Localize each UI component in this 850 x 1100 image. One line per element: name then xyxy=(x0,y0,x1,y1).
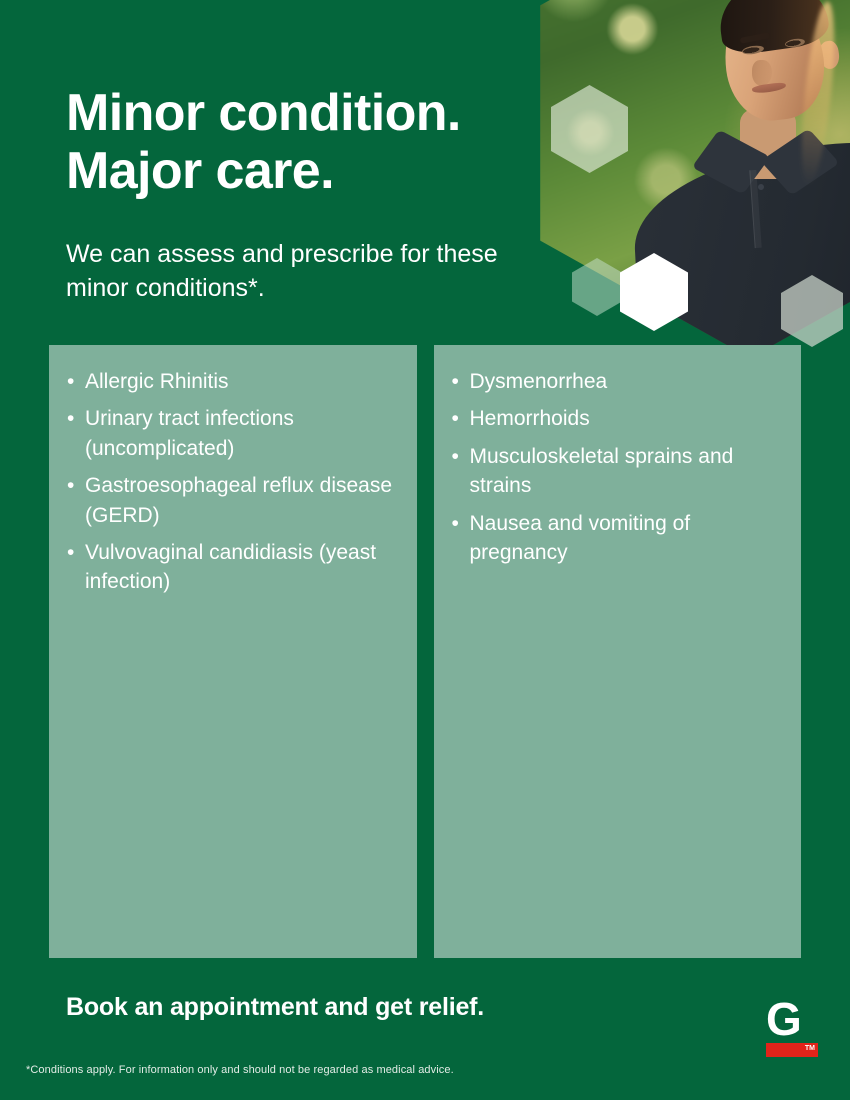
conditions-list-left: Allergic RhinitisUrinary tract infection… xyxy=(65,367,397,597)
condition-list-item: Urinary tract infections (uncomplicated) xyxy=(65,404,397,463)
person-shirt-button xyxy=(758,184,764,190)
conditions-list-right: DysmenorrheaHemorrhoidsMusculoskeletal s… xyxy=(450,367,782,567)
condition-list-item: Gastroesophageal reflux disease (GERD) xyxy=(65,471,397,530)
conditions-panel-group: Allergic RhinitisUrinary tract infection… xyxy=(49,345,801,958)
condition-list-item: Vulvovaginal candidiasis (yeast infectio… xyxy=(65,538,397,597)
condition-list-item: Dysmenorrhea xyxy=(450,367,782,396)
condition-list-item: Allergic Rhinitis xyxy=(65,367,397,396)
conditions-card-left: Allergic RhinitisUrinary tract infection… xyxy=(49,345,417,958)
condition-list-item: Nausea and vomiting of pregnancy xyxy=(450,509,782,568)
person-nose xyxy=(752,60,772,86)
condition-list-item: Hemorrhoids xyxy=(450,404,782,433)
brand-logo-bar: TM xyxy=(766,1043,818,1057)
brand-logo: G TM xyxy=(766,997,818,1059)
poster-canvas: Minor condition. Major care. We can asse… xyxy=(0,0,850,1100)
call-to-action-text: Book an appointment and get relief. xyxy=(66,993,484,1022)
conditions-card-right: DysmenorrheaHemorrhoidsMusculoskeletal s… xyxy=(434,345,802,958)
condition-list-item: Musculoskeletal sprains and strains xyxy=(450,442,782,501)
brand-logo-letter: G xyxy=(766,997,818,1042)
page-subtitle: We can assess and prescribe for these mi… xyxy=(66,238,498,305)
disclaimer-text: *Conditions apply. For information only … xyxy=(26,1064,454,1076)
trademark-symbol: TM xyxy=(805,1044,815,1054)
page-title: Minor condition. Major care. xyxy=(66,84,461,200)
